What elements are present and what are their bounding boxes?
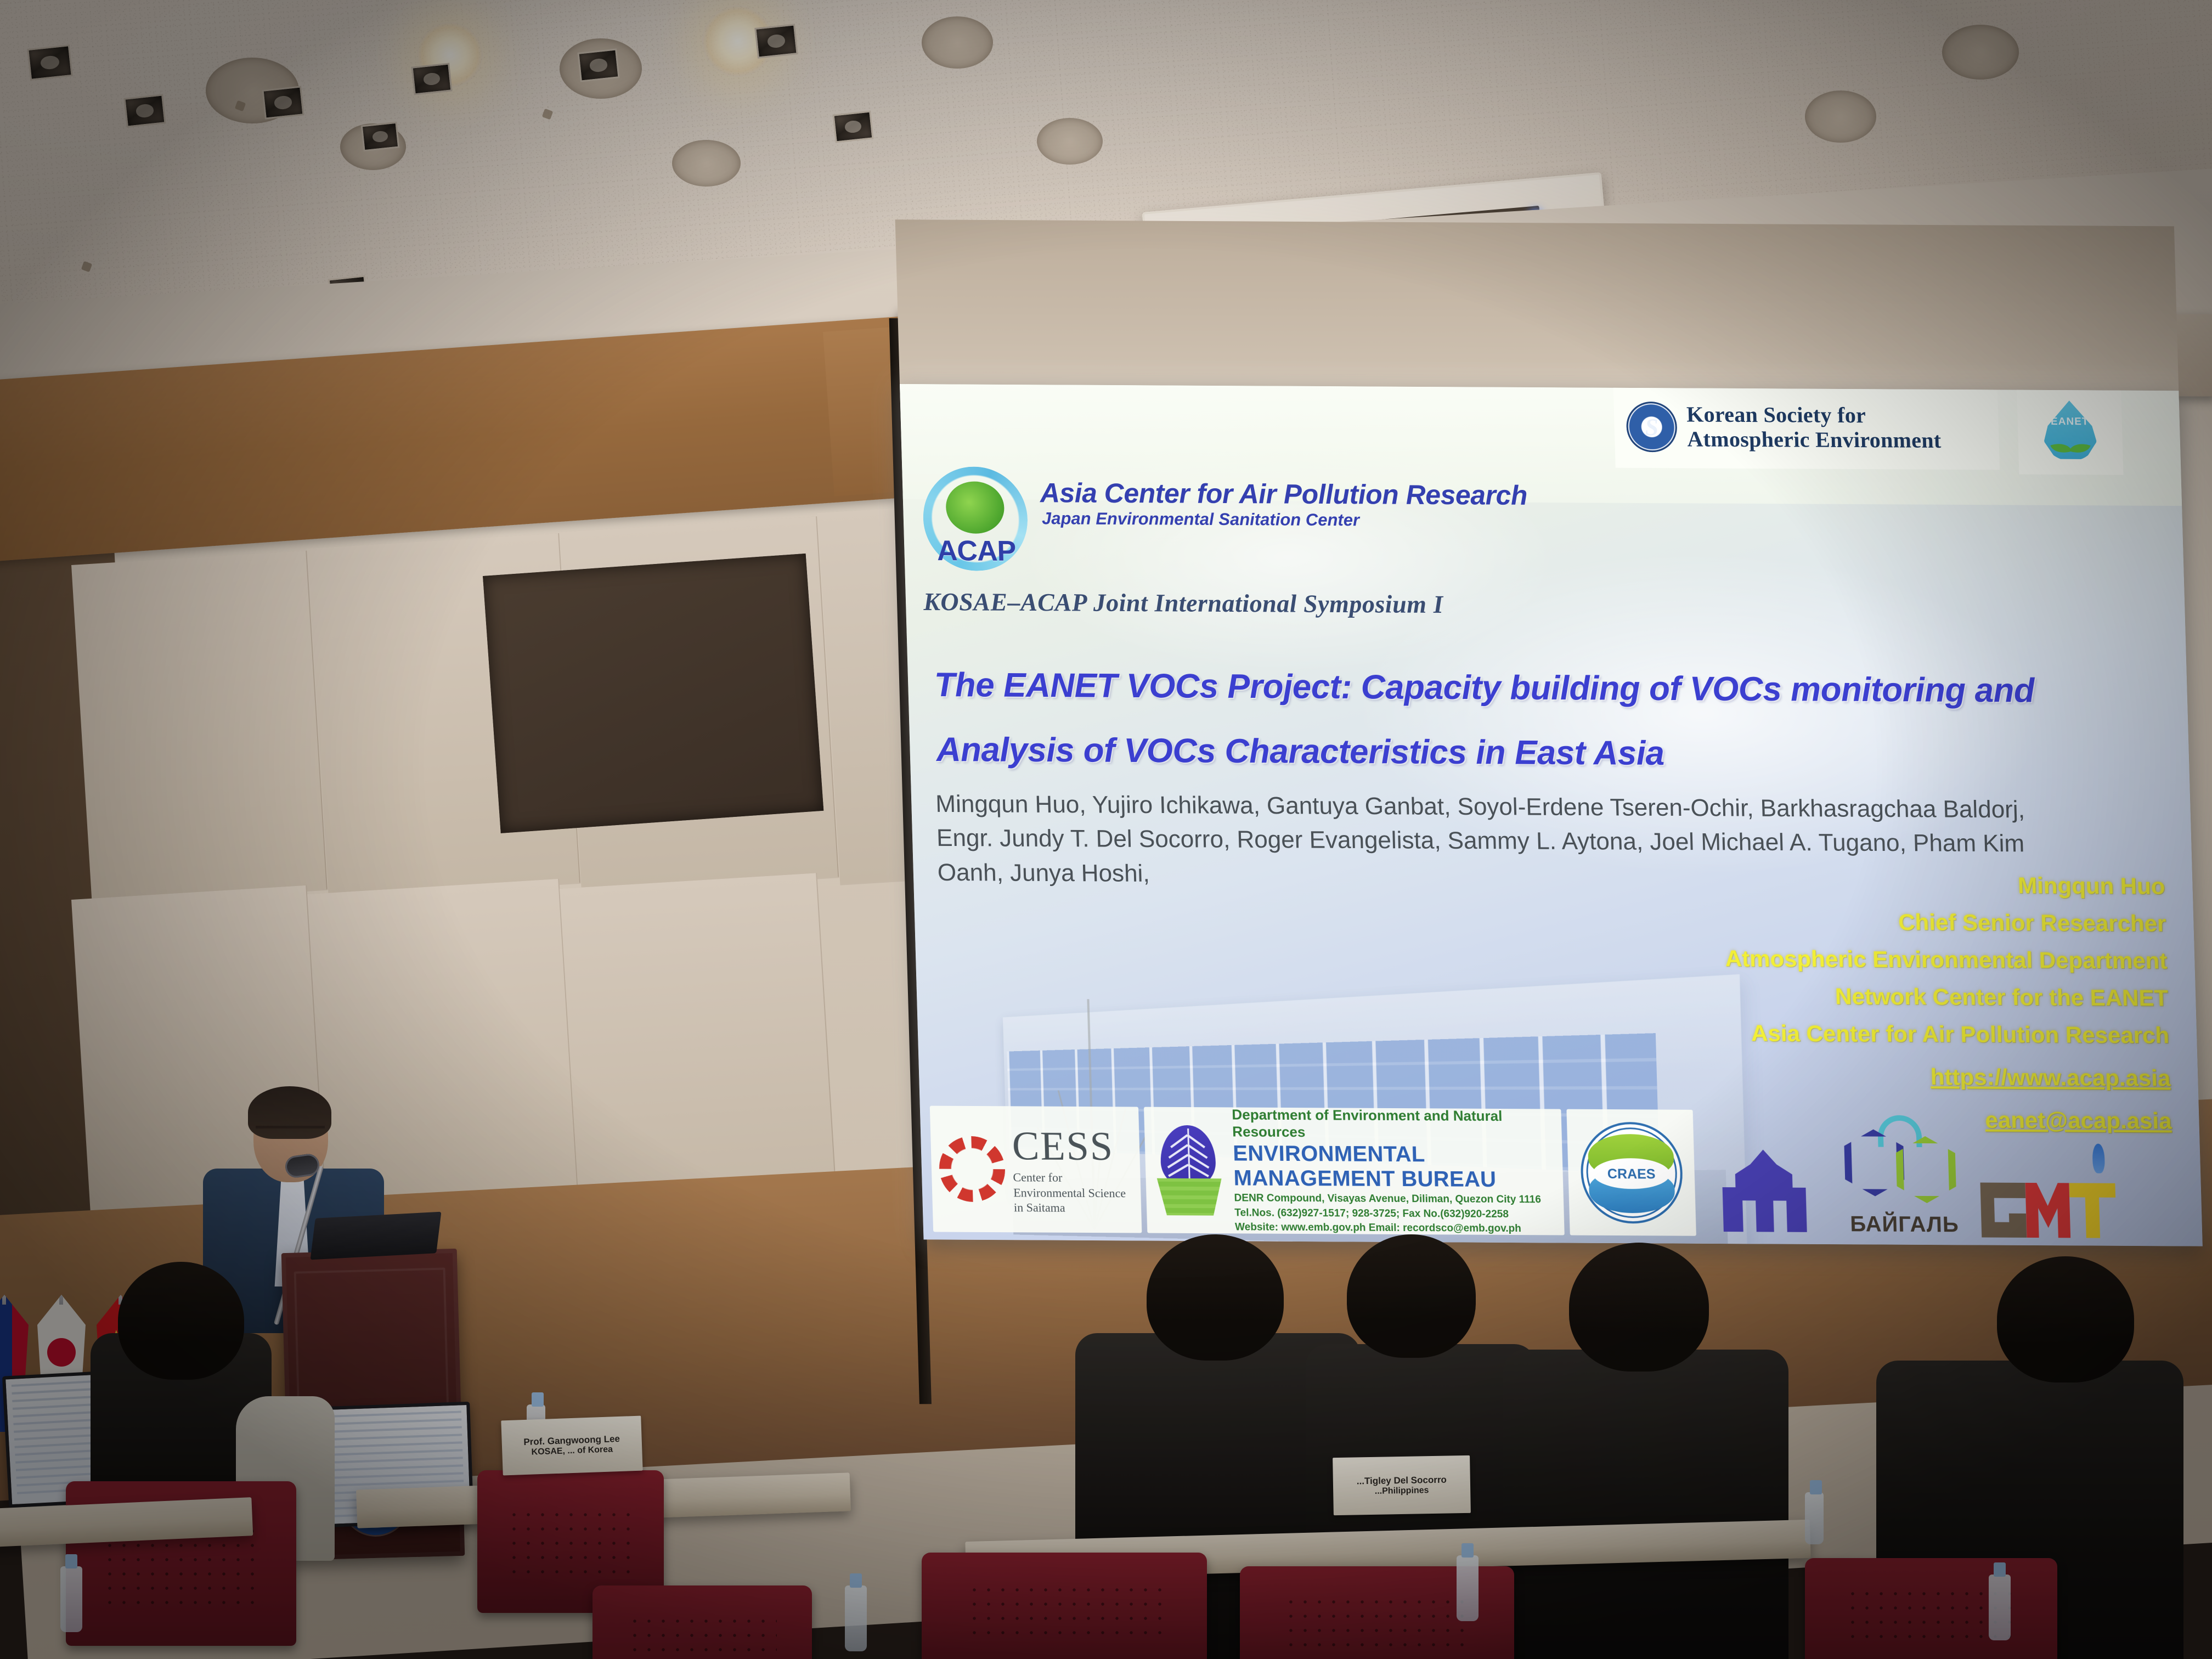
- attendee-head: [1147, 1234, 1284, 1361]
- nameplate-affiliation: KOSAE, ... of Korea: [531, 1444, 613, 1457]
- flag-pole: [59, 1283, 63, 1305]
- seat-chair[interactable]: [592, 1585, 812, 1659]
- kosae-line2: Atmospheric Environment: [1687, 427, 1942, 453]
- flag-pole: [2, 1283, 6, 1305]
- slide-title: The EANET VOCs Project: Capacity buildin…: [934, 653, 2145, 788]
- emb-address-line: DENR Compound, Visayas Avenue, Diliman, …: [1234, 1192, 1556, 1207]
- nameplate-audience: ...Tigley Del Socorro ...Philippines: [1333, 1455, 1471, 1515]
- attendee-head: [1997, 1256, 2134, 1383]
- cess-flame-ring-icon: [938, 1136, 1006, 1203]
- presenter-name: Mingqun Huo: [1561, 865, 2165, 905]
- wall-panel: [71, 551, 328, 905]
- slide-title-line2: Analysis of VOCs Characteristics in East…: [935, 718, 2145, 788]
- kosae-line1: Korean Society for: [1686, 403, 1940, 428]
- nameplate-front-speaker: Prof. Gangwoong Lee KOSAE, ... of Korea: [501, 1416, 642, 1476]
- cess-fullname-line2: in Saitama: [1014, 1200, 1134, 1216]
- craes-logo: CRAES: [1566, 1109, 1696, 1236]
- screen-blank-area: [895, 219, 2179, 391]
- leaf-icon: [2050, 439, 2072, 456]
- cess-text: CESS Center for Environmental Science in…: [1012, 1124, 1134, 1216]
- presenter-org: Asia Center for Air Pollution Research: [1565, 1014, 2170, 1054]
- cess-logo: CESS Center for Environmental Science in…: [930, 1106, 1142, 1233]
- emb-web-line: Website: www.emb.gov.ph Email: recordsco…: [1235, 1221, 1557, 1237]
- water-bottle[interactable]: [60, 1566, 82, 1632]
- ceiling-vent-square: [262, 86, 304, 119]
- downlight-off: [1037, 118, 1103, 165]
- ceiling-vent-square: [361, 122, 400, 152]
- baigal-logo: БАЙГАЛЬ: [1830, 1116, 1976, 1237]
- speaker-glasses: [256, 1126, 325, 1140]
- attendee-head: [1347, 1234, 1476, 1358]
- water-bottle[interactable]: [1457, 1555, 1479, 1621]
- presenter-department: Atmospheric Environmental Department: [1563, 939, 2168, 980]
- gmt-letter-m: [2025, 1183, 2070, 1238]
- eanet-waterdrop-icon: EANET: [2043, 400, 2097, 461]
- water-bottle[interactable]: [1989, 1575, 2011, 1640]
- water-bottle[interactable]: [1805, 1492, 1824, 1544]
- presenter-role: Chief Senior Researcher: [1562, 902, 2166, 943]
- emb-phone-line: Tel.Nos. (632)927-1517; 928-3725; Fax No…: [1234, 1206, 1556, 1222]
- presenter-center: Network Center for the EANET: [1564, 977, 2169, 1017]
- mongolia-ministry-logo: [1699, 1126, 1828, 1237]
- leaf-icon: [2069, 439, 2091, 457]
- projection-screen-assembly: Korean Society for Atmospheric Environme…: [900, 384, 2212, 1378]
- attendee-head: [1569, 1243, 1709, 1372]
- craes-seal-icon: CRAES: [1579, 1121, 1684, 1223]
- partner-logo-strip: CESS Center for Environmental Science in…: [919, 1093, 2203, 1243]
- emb-leaf-shape: [1160, 1125, 1216, 1186]
- conference-room-photo: Korean Society for Atmospheric Environme…: [0, 0, 2212, 1659]
- eanet-logo-block: EANET: [2017, 387, 2124, 475]
- seat-chair[interactable]: [922, 1553, 1207, 1659]
- wall-dark-recess-panel: [483, 554, 823, 833]
- eanet-logo-label: EANET: [2051, 416, 2089, 428]
- kosae-logo-text: Korean Society for Atmospheric Environme…: [1686, 403, 1942, 453]
- downlight-off: [1942, 25, 2019, 80]
- emb-wave-shape: [1157, 1178, 1223, 1216]
- gmt-letter-g: [1980, 1183, 2027, 1238]
- gmt-letter-t: [2069, 1183, 2117, 1238]
- baigal-wordmark: БАЙГАЛЬ: [1833, 1212, 1976, 1237]
- nameplate-affiliation: ...Philippines: [1375, 1486, 1429, 1497]
- gmt-logo: [1979, 1150, 2119, 1238]
- kosae-seal-icon: [1626, 402, 1678, 452]
- acap-logo-icon: ACAP: [922, 466, 1029, 571]
- temple-icon: [1708, 1149, 1820, 1232]
- ceiling-vent-square: [411, 63, 452, 95]
- attendee-body: [1503, 1350, 1788, 1659]
- gmt-flame-icon: [2092, 1144, 2106, 1173]
- acap-title: Asia Center for Air Pollution Research: [1040, 477, 1528, 511]
- water-bottle[interactable]: [845, 1585, 867, 1651]
- ceiling-vent-square: [832, 110, 873, 143]
- emb-logo: Department of Environment and Natural Re…: [1144, 1107, 1565, 1235]
- seat-chair[interactable]: [1805, 1558, 2057, 1659]
- ceiling-vent-square: [123, 94, 166, 127]
- podium-laptop: [311, 1212, 442, 1260]
- ceiling-vent-square: [577, 48, 619, 82]
- emb-text: Department of Environment and Natural Re…: [1232, 1106, 1557, 1236]
- nameplate-name: ...Tigley Del Socorro: [1357, 1474, 1447, 1487]
- emb-leaf-icon: [1152, 1125, 1226, 1216]
- ceiling-vent-square: [27, 44, 73, 81]
- downlight-off: [1805, 91, 1876, 143]
- ceiling-vent-square: [754, 24, 798, 58]
- downlight-off: [922, 16, 993, 69]
- kosae-logo-block: Korean Society for Atmospheric Environme…: [1613, 386, 2000, 470]
- emb-bureau-line: ENVIRONMENTAL MANAGEMENT BUREAU: [1233, 1141, 1556, 1192]
- cess-acronym: CESS: [1012, 1124, 1132, 1171]
- acap-subtitle: Japan Environmental Sanitation Center: [1041, 509, 1359, 530]
- projected-slide: Korean Society for Atmospheric Environme…: [900, 384, 2203, 1246]
- presenter-website-link[interactable]: https://www.acap.asia: [1566, 1057, 2171, 1097]
- symposium-line: KOSAE–ACAP Joint International Symposium…: [923, 587, 1443, 619]
- downlight-off: [672, 140, 741, 187]
- craes-acronym: CRAES: [1581, 1166, 1683, 1183]
- attendee-head: [118, 1262, 244, 1380]
- acap-logo-word: ACAP: [924, 534, 1029, 568]
- emb-denr-line: Department of Environment and Natural Re…: [1232, 1106, 1554, 1142]
- slide-title-line1: The EANET VOCs Project: Capacity buildin…: [934, 653, 2143, 724]
- cess-fullname-line1: Center for Environmental Science: [1013, 1170, 1133, 1201]
